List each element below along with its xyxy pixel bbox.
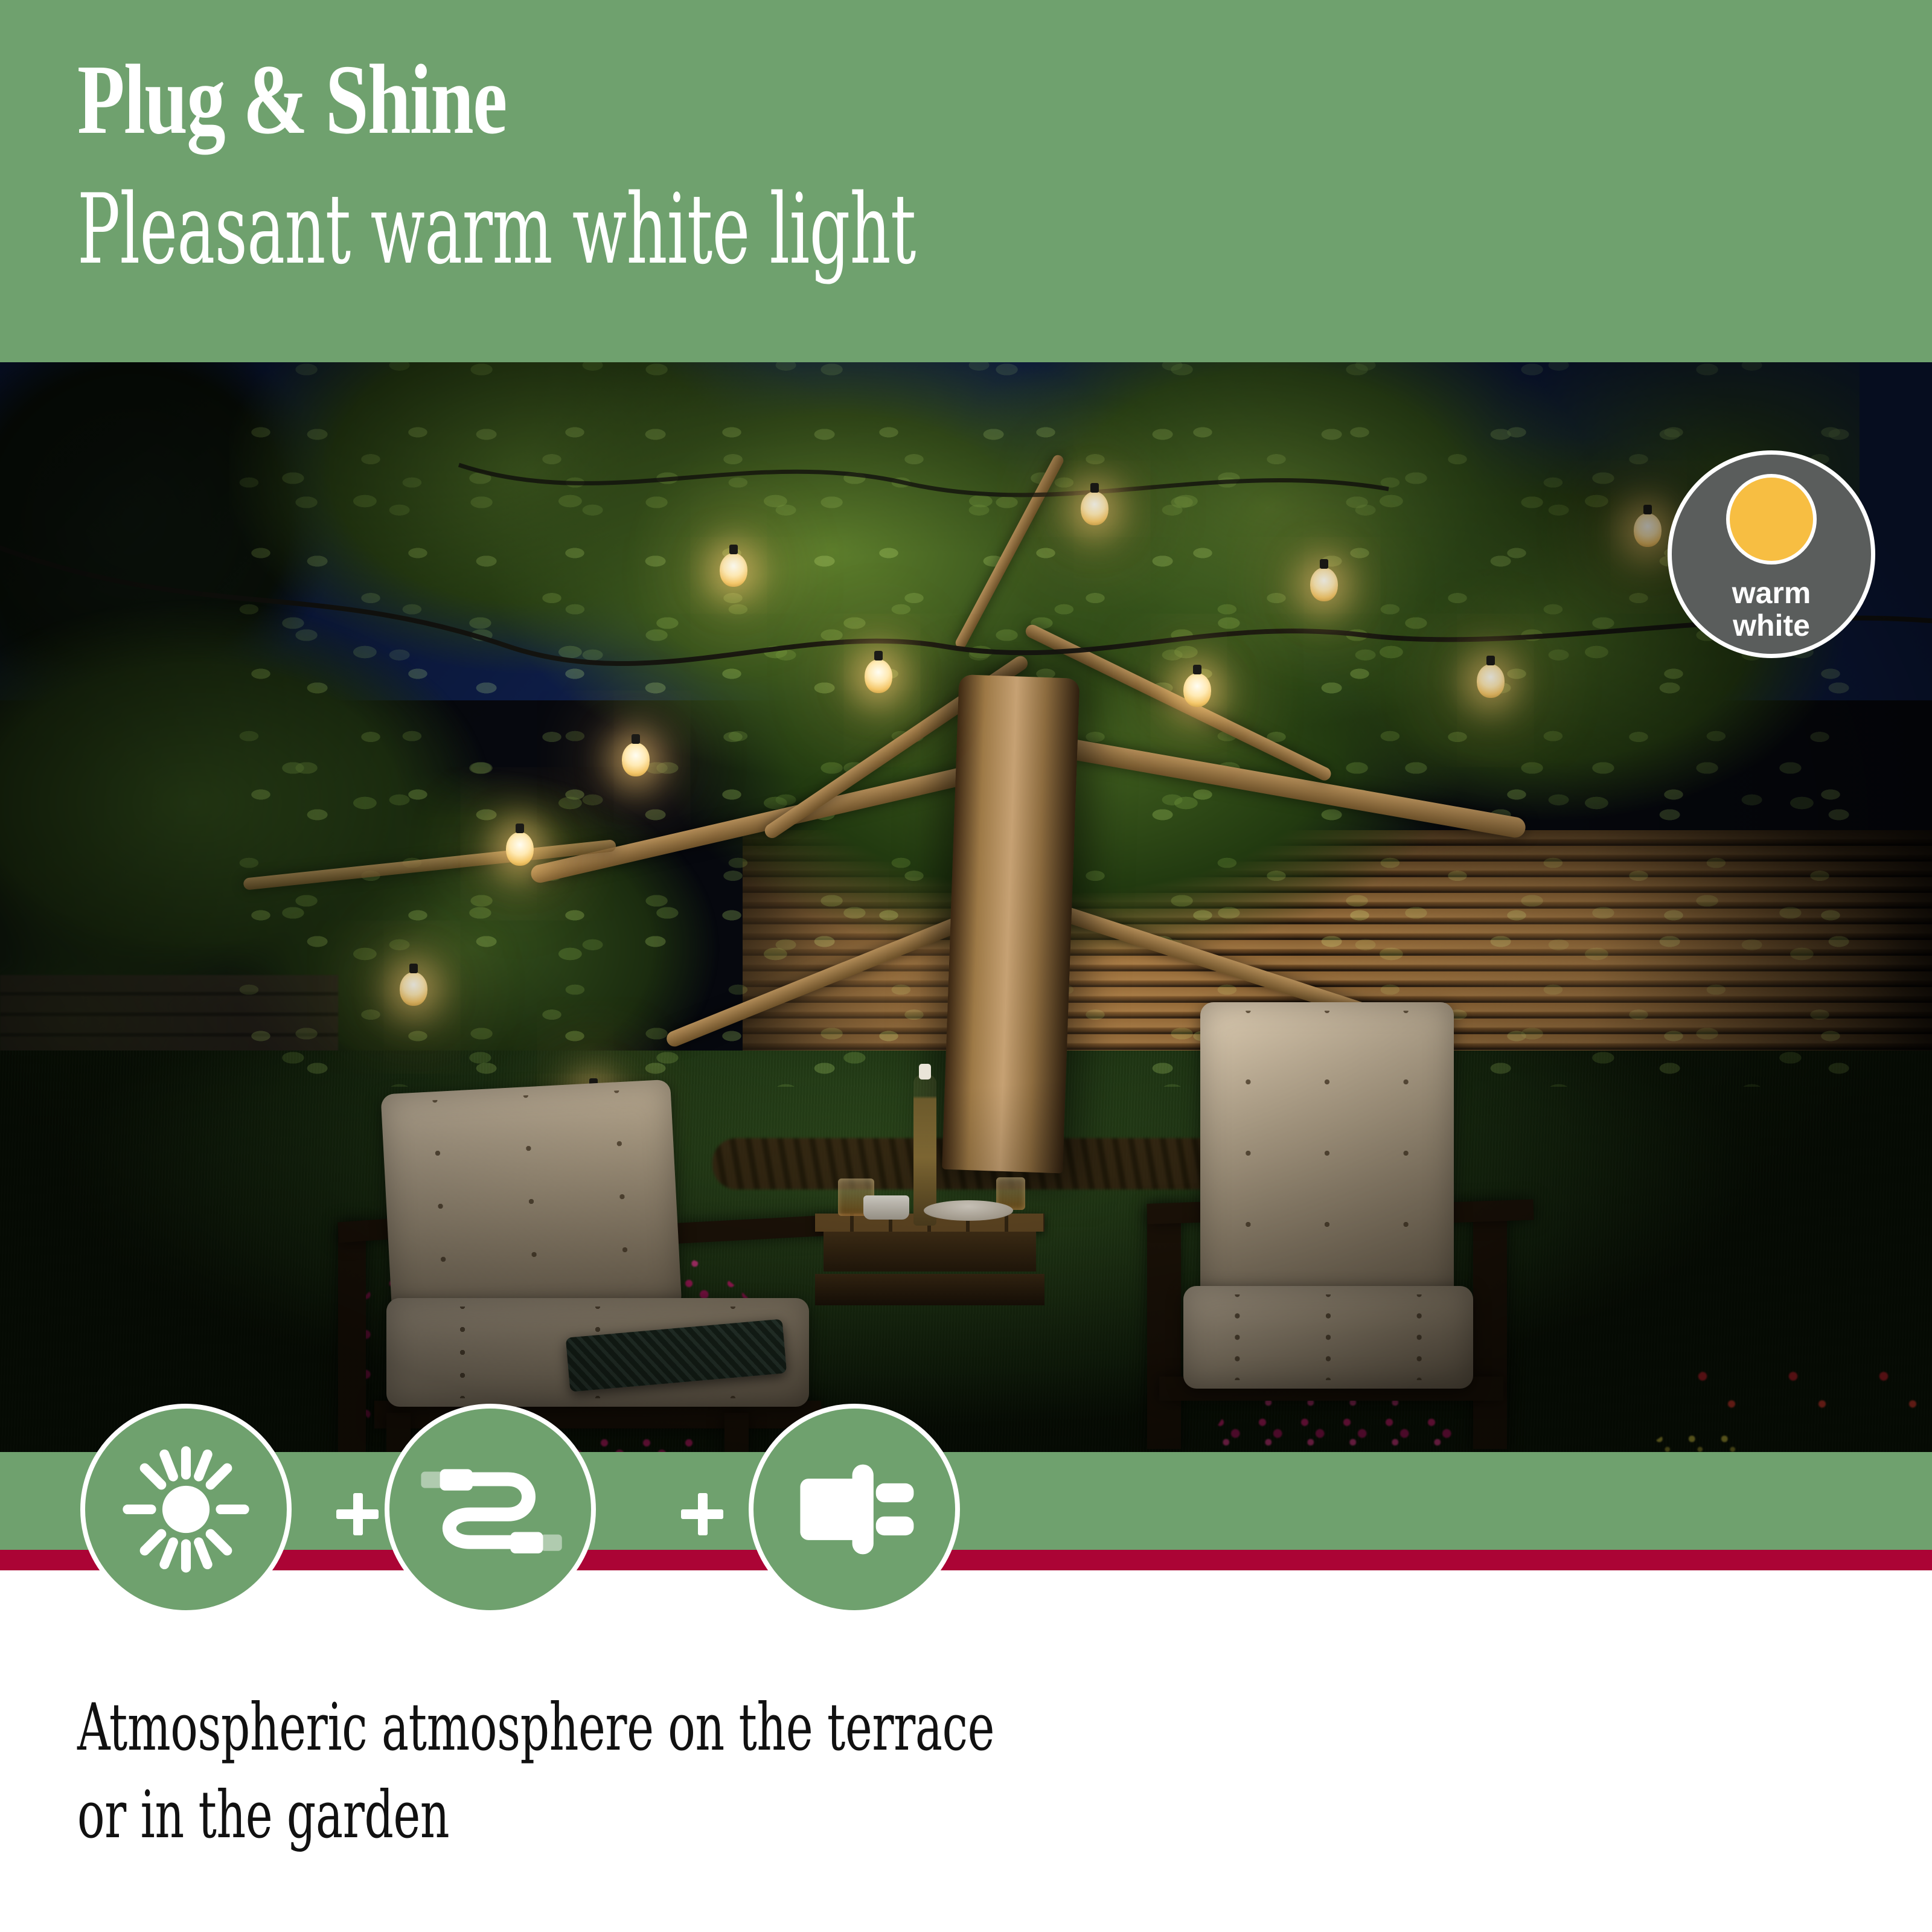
lounge-chair-right <box>1147 1002 1534 1449</box>
sun-icon <box>117 1440 255 1579</box>
light-bulb <box>865 659 892 693</box>
page-title: Plug & Shine <box>77 50 507 149</box>
warm-white-label: warmwhite <box>1732 577 1811 642</box>
warm-white-badge: warmwhite <box>1668 450 1875 658</box>
badge-line-2: white <box>1733 609 1810 642</box>
feature-icon-row <box>0 1404 1932 1621</box>
light-bulb <box>1310 568 1338 601</box>
plug-icon <box>784 1449 926 1570</box>
header-banner: Plug & Shine Pleasant warm white light <box>0 0 1932 362</box>
badge-line-1: warm <box>1732 576 1811 610</box>
light-bulb <box>1183 673 1211 707</box>
light-icon-circle <box>80 1404 292 1615</box>
light-bulb <box>506 832 534 866</box>
hero-photo <box>0 362 1932 1452</box>
caption-text: Atmospheric atmosphere on the terrace or… <box>77 1684 994 1859</box>
plug-icon-circle <box>749 1404 960 1615</box>
bottle <box>913 1075 936 1226</box>
light-bulb <box>720 553 747 587</box>
light-bulb <box>1081 491 1108 525</box>
light-bulb <box>622 743 650 776</box>
serving-bowl <box>863 1195 909 1220</box>
lounge-chair-left <box>314 1087 785 1452</box>
pallet-table <box>815 1214 1044 1310</box>
serving-plate <box>924 1200 1013 1221</box>
warm-white-color-dot <box>1726 474 1817 565</box>
plus-separator-2 <box>681 1493 723 1535</box>
light-bulb <box>1634 513 1662 547</box>
cable-icon <box>415 1446 566 1573</box>
page-subtitle: Pleasant warm white light <box>77 181 916 278</box>
cable-icon-circle <box>385 1404 596 1615</box>
light-bulb <box>400 972 427 1006</box>
plus-separator-1 <box>336 1493 379 1535</box>
light-bulb <box>1477 664 1505 698</box>
tree-trunk <box>942 674 1080 1173</box>
